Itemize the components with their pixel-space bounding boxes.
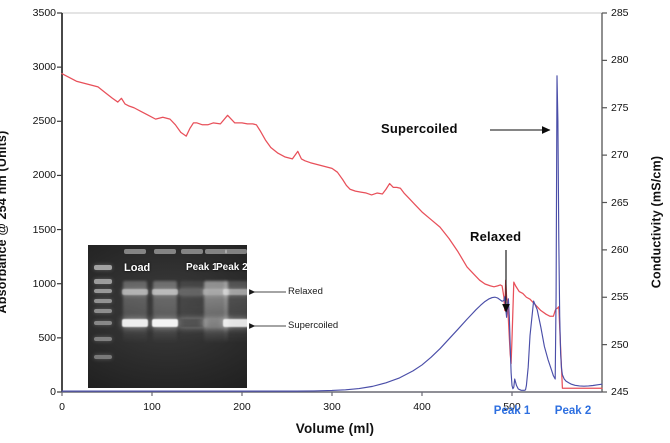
- gel-well: [124, 249, 146, 254]
- gel-band: [94, 265, 112, 270]
- gel-well: [205, 249, 227, 254]
- gel-band: [94, 355, 112, 359]
- gel-band-supercoiled: [122, 319, 148, 327]
- gel-lane-label-peak2: Peak 2: [216, 262, 247, 273]
- gel-band-relaxed: [179, 289, 205, 295]
- peak-label-2: Peak 2: [555, 405, 591, 417]
- gel-band: [94, 309, 112, 313]
- gel-band: [94, 337, 112, 341]
- annotation-relaxed: Relaxed: [470, 229, 521, 244]
- peak-label-1: Peak 1: [494, 405, 530, 417]
- gel-well: [225, 249, 247, 254]
- gel-band-supercoiled: [152, 319, 178, 327]
- annotation-relaxed-arrow: [498, 248, 514, 320]
- gel-band: [94, 299, 112, 303]
- gel-band: [94, 279, 112, 284]
- gel-band: [94, 321, 112, 325]
- gel-band-relaxed: [152, 289, 178, 295]
- gel-electrophoresis-inset: Load Peak 1 Peak 2: [88, 245, 247, 388]
- gel-lane-label-load: Load: [124, 262, 150, 274]
- gel-well: [181, 249, 203, 254]
- gel-band-relaxed: [122, 289, 148, 295]
- gel-band-label-supercoiled: Supercoiled: [288, 320, 338, 331]
- gel-band-label-relaxed: Relaxed: [288, 286, 323, 297]
- gel-well: [154, 249, 176, 254]
- annotation-supercoiled: Supercoiled: [381, 121, 458, 136]
- annotation-supercoiled-arrow: [488, 122, 558, 138]
- chromatogram-figure: Absorbance @ 254 nm (Units) Conductivity…: [0, 0, 670, 443]
- gel-band-supercoiled: [179, 319, 205, 327]
- gel-lane-label-peak1: Peak 1: [186, 262, 218, 273]
- gel-band: [94, 289, 112, 293]
